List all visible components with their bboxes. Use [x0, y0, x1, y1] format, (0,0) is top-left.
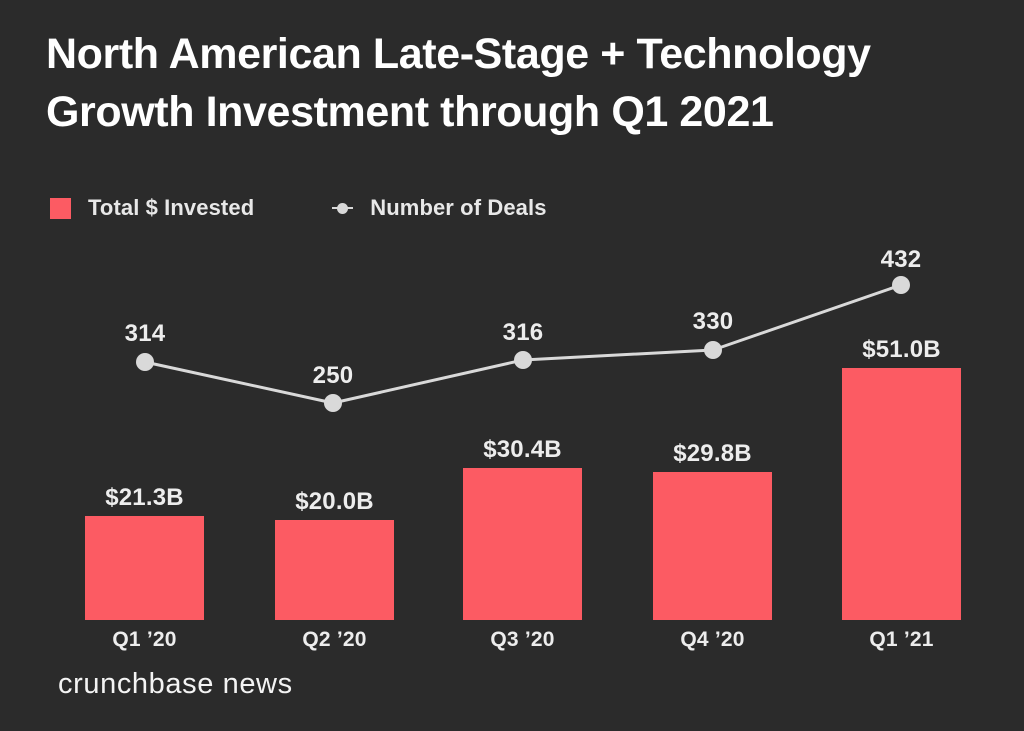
x-axis-label-q1-20: Q1 ’20: [85, 628, 204, 652]
deals-line-series: [0, 0, 1024, 731]
deals-marker-q4-20[interactable]: [704, 341, 722, 359]
deal-value-label: 314: [100, 320, 190, 348]
plot-area: $21.3B $20.0B $30.4B $29.8B $51.0B 314 2…: [0, 0, 1024, 731]
x-axis-label-q2-20: Q2 ’20: [275, 628, 394, 652]
x-axis-label-q4-20: Q4 ’20: [653, 628, 772, 652]
deal-value-label: 316: [478, 319, 568, 347]
deal-value-label: 330: [668, 308, 758, 336]
brand-wordmark: crunchbase news: [58, 668, 293, 701]
deal-value-label: 250: [288, 362, 378, 390]
x-axis-label-q3-20: Q3 ’20: [463, 628, 582, 652]
deals-marker-q2-20[interactable]: [324, 394, 342, 412]
deals-marker-q3-20[interactable]: [514, 351, 532, 369]
deals-marker-q1-21[interactable]: [892, 276, 910, 294]
chart-canvas: North American Late-Stage + Technology G…: [0, 0, 1024, 731]
deal-value-label: 432: [856, 246, 946, 274]
deals-marker-q1-20[interactable]: [136, 353, 154, 371]
x-axis-label-q1-21: Q1 ’21: [842, 628, 961, 652]
